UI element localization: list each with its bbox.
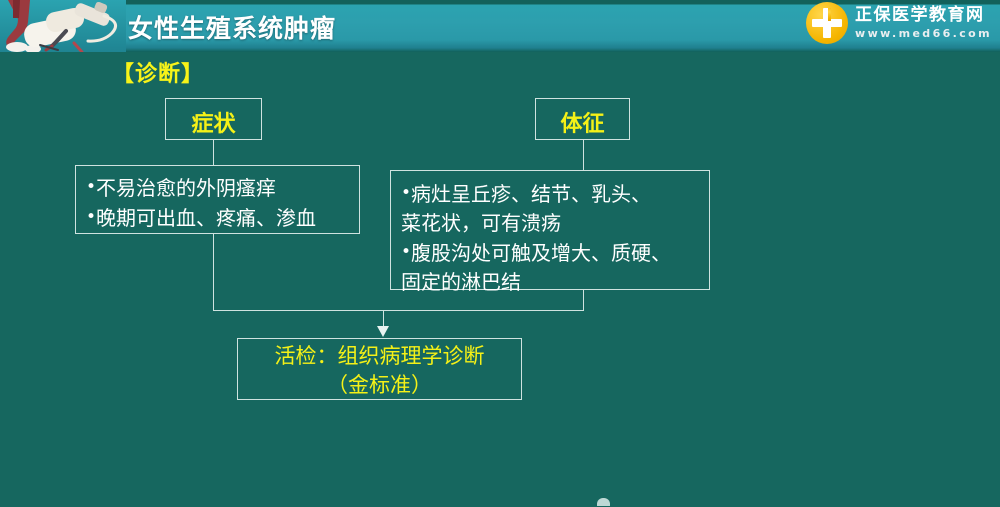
connector-sign-detail-down [583, 290, 584, 311]
bullet-item: •不易治愈的外阴瘙痒 [86, 173, 359, 203]
connector-merge-to-biopsy [383, 310, 384, 327]
connector-symptom-to-detail [213, 140, 214, 166]
node-symptom-details: •不易治愈的外阴瘙痒 •晚期可出血、疼痛、渗血 [75, 165, 360, 234]
section-heading-diagnosis: 【诊断】 [112, 56, 204, 88]
biopsy-line-1: 活检：组织病理学诊断 [238, 342, 521, 371]
connector-sign-to-detail [583, 140, 584, 171]
node-symptom-label: 症状 [166, 106, 261, 138]
bullet-text: 病灶呈丘疹、结节、乳头、 [411, 182, 651, 206]
connector-symptom-detail-down [213, 234, 214, 310]
node-symptom: 症状 [165, 98, 262, 140]
biopsy-line-2: （金标准） [238, 371, 521, 400]
presentation-slide: 女性生殖系统肿瘤 正保医学教育网 www.med66.com 【诊断】 症状 体… [0, 0, 1000, 507]
medical-cross-icon [806, 2, 848, 44]
node-sign: 体征 [535, 98, 630, 140]
bullet-text: 不易治愈的外阴瘙痒 [96, 176, 276, 200]
bullet-item: •病灶呈丘疹、结节、乳头、 [401, 179, 709, 209]
connector-merge-horizontal [213, 310, 584, 311]
node-sign-label: 体征 [536, 106, 629, 138]
bullet-dot-icon: • [401, 179, 411, 208]
video-progress-artifact [597, 498, 610, 506]
brand-logo: 正保医学教育网 www.med66.com [806, 2, 992, 44]
brand-text-block: 正保医学教育网 www.med66.com [855, 7, 992, 39]
bullet-text: 菜花状，可有溃疡 [401, 211, 561, 235]
bullet-text: 固定的淋巴结 [401, 270, 521, 294]
bullet-item: •腹股沟处可触及增大、质硬、 [401, 238, 709, 268]
bullet-text: 腹股沟处可触及增大、质硬、 [411, 241, 671, 265]
node-sign-details: •病灶呈丘疹、结节、乳头、 菜花状，可有溃疡 •腹股沟处可触及增大、质硬、 固定… [390, 170, 710, 290]
brand-name: 正保医学教育网 [855, 7, 992, 24]
bullet-continuation: 固定的淋巴结 [401, 268, 709, 297]
slide-title: 女性生殖系统肿瘤 [128, 9, 336, 45]
medical-illustration-icon [0, 0, 126, 52]
slide-header-bar: 女性生殖系统肿瘤 正保医学教育网 www.med66.com [0, 0, 1000, 52]
bullet-dot-icon: • [86, 203, 96, 232]
bullet-text: 晚期可出血、疼痛、渗血 [96, 206, 316, 230]
bullet-continuation: 菜花状，可有溃疡 [401, 209, 709, 238]
bullet-dot-icon: • [86, 173, 96, 202]
node-biopsy-conclusion: 活检：组织病理学诊断 （金标准） [237, 338, 522, 400]
bullet-dot-icon: • [401, 238, 411, 267]
brand-url: www.med66.com [855, 28, 992, 39]
bullet-item: •晚期可出血、疼痛、渗血 [86, 203, 359, 233]
arrowhead-down-icon [377, 326, 389, 337]
